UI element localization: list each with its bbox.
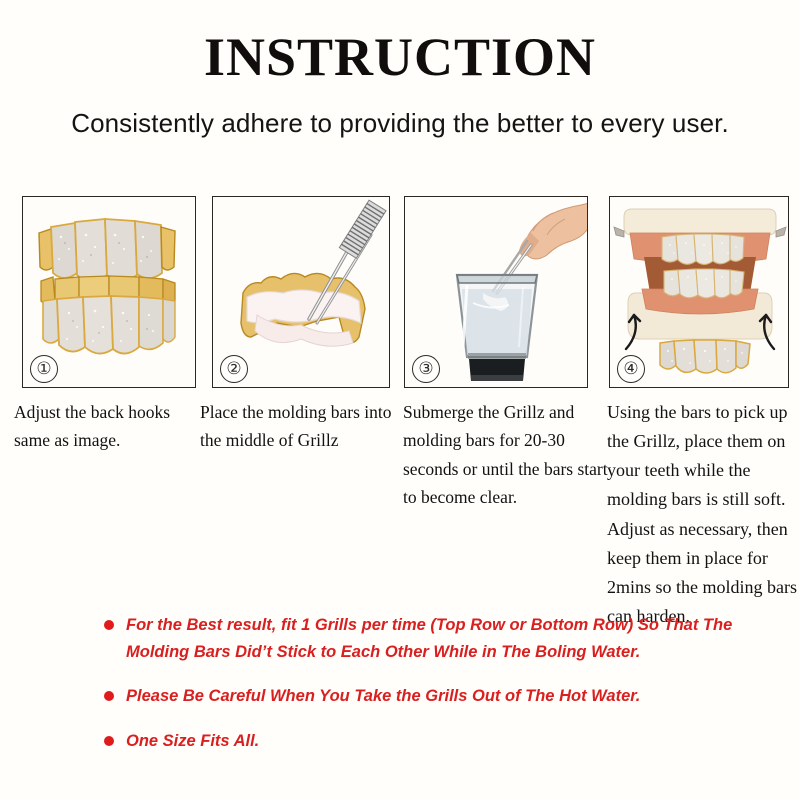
step-caption-3: Submerge the Grillz and molding bars for… xyxy=(403,398,609,511)
step-badge-4: ④ xyxy=(617,355,645,383)
note-item: One Size Fits All. xyxy=(98,728,746,755)
step-badge-1: ① xyxy=(30,355,58,383)
hand-shape xyxy=(519,203,588,259)
step-caption-2: Place the molding bars into the middle o… xyxy=(200,398,398,455)
glass-shape xyxy=(457,275,537,381)
step-badge-3: ③ xyxy=(412,355,440,383)
note-item: Please Be Careful When You Take the Gril… xyxy=(98,683,746,710)
note-text: Please Be Careful When You Take the Gril… xyxy=(126,687,640,705)
step-image-2: ② xyxy=(212,196,390,388)
step-caption-1: Adjust the back hooks same as image. xyxy=(14,398,204,455)
page-subtitle: Consistently adhere to providing the bet… xyxy=(0,84,800,139)
red-notes-list: For the Best result, fit 1 Grills per ti… xyxy=(0,612,800,773)
steps-image-row: ① xyxy=(0,196,800,392)
note-text: For the Best result, fit 1 Grills per ti… xyxy=(126,616,732,661)
bullet-dot-icon xyxy=(104,736,114,746)
bullet-dot-icon xyxy=(104,691,114,701)
bullet-dot-icon xyxy=(104,620,114,630)
note-item: For the Best result, fit 1 Grills per ti… xyxy=(98,612,746,665)
step-image-4: ④ xyxy=(609,196,789,388)
step-image-3: ③ xyxy=(404,196,588,388)
note-text: One Size Fits All. xyxy=(126,732,259,750)
step-image-1: ① xyxy=(22,196,196,388)
step-caption-4: Using the bars to pick up the Grillz, pl… xyxy=(607,398,797,631)
step-badge-2: ② xyxy=(220,355,248,383)
page-title: INSTRUCTION xyxy=(0,0,800,84)
